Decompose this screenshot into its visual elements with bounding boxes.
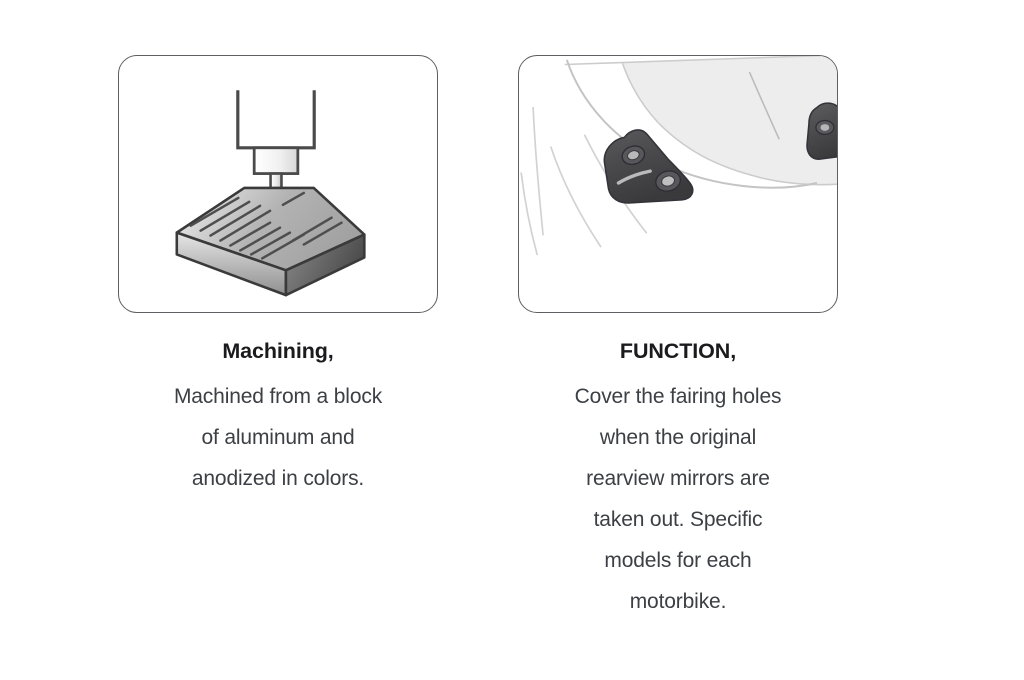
- caption-line: motorbike.: [518, 581, 838, 622]
- caption-line: when the original: [518, 417, 838, 458]
- caption-line: models for each: [518, 540, 838, 581]
- function-title: FUNCTION,: [518, 339, 838, 365]
- feature-column-function: FUNCTION, Cover the fairing holes when t…: [518, 55, 838, 622]
- machining-body: Machined from a block of aluminum and an…: [118, 376, 438, 499]
- collet-icon: [254, 148, 298, 174]
- aluminum-block-icon: [177, 188, 365, 295]
- function-illustration-card: [518, 55, 838, 313]
- feature-columns: Machining, Machined from a block of alum…: [0, 0, 1024, 680]
- caption-line: of aluminum and: [118, 417, 438, 458]
- caption-line: Cover the fairing holes: [518, 376, 838, 417]
- spindle-holder-icon: [238, 90, 314, 148]
- machining-caption: Machining, Machined from a block of alum…: [118, 339, 438, 499]
- second-plate-bolt-hole-inner: [820, 124, 829, 131]
- machining-illustration-card: [118, 55, 438, 313]
- caption-line: Machined from a block: [118, 376, 438, 417]
- function-body: Cover the fairing holes when the origina…: [518, 376, 838, 622]
- feature-column-machining: Machining, Machined from a block of alum…: [118, 55, 438, 499]
- caption-line: anodized in colors.: [118, 458, 438, 499]
- feature-panels-page: Machining, Machined from a block of alum…: [0, 0, 1024, 680]
- second-plate-clipped: [807, 103, 837, 159]
- mirror-block-off-plate-icon: [519, 56, 837, 312]
- caption-line: taken out. Specific: [518, 499, 838, 540]
- machining-title: Machining,: [118, 339, 438, 365]
- function-caption: FUNCTION, Cover the fairing holes when t…: [518, 339, 838, 622]
- cnc-machining-icon: [119, 56, 437, 312]
- caption-line: rearview mirrors are: [518, 458, 838, 499]
